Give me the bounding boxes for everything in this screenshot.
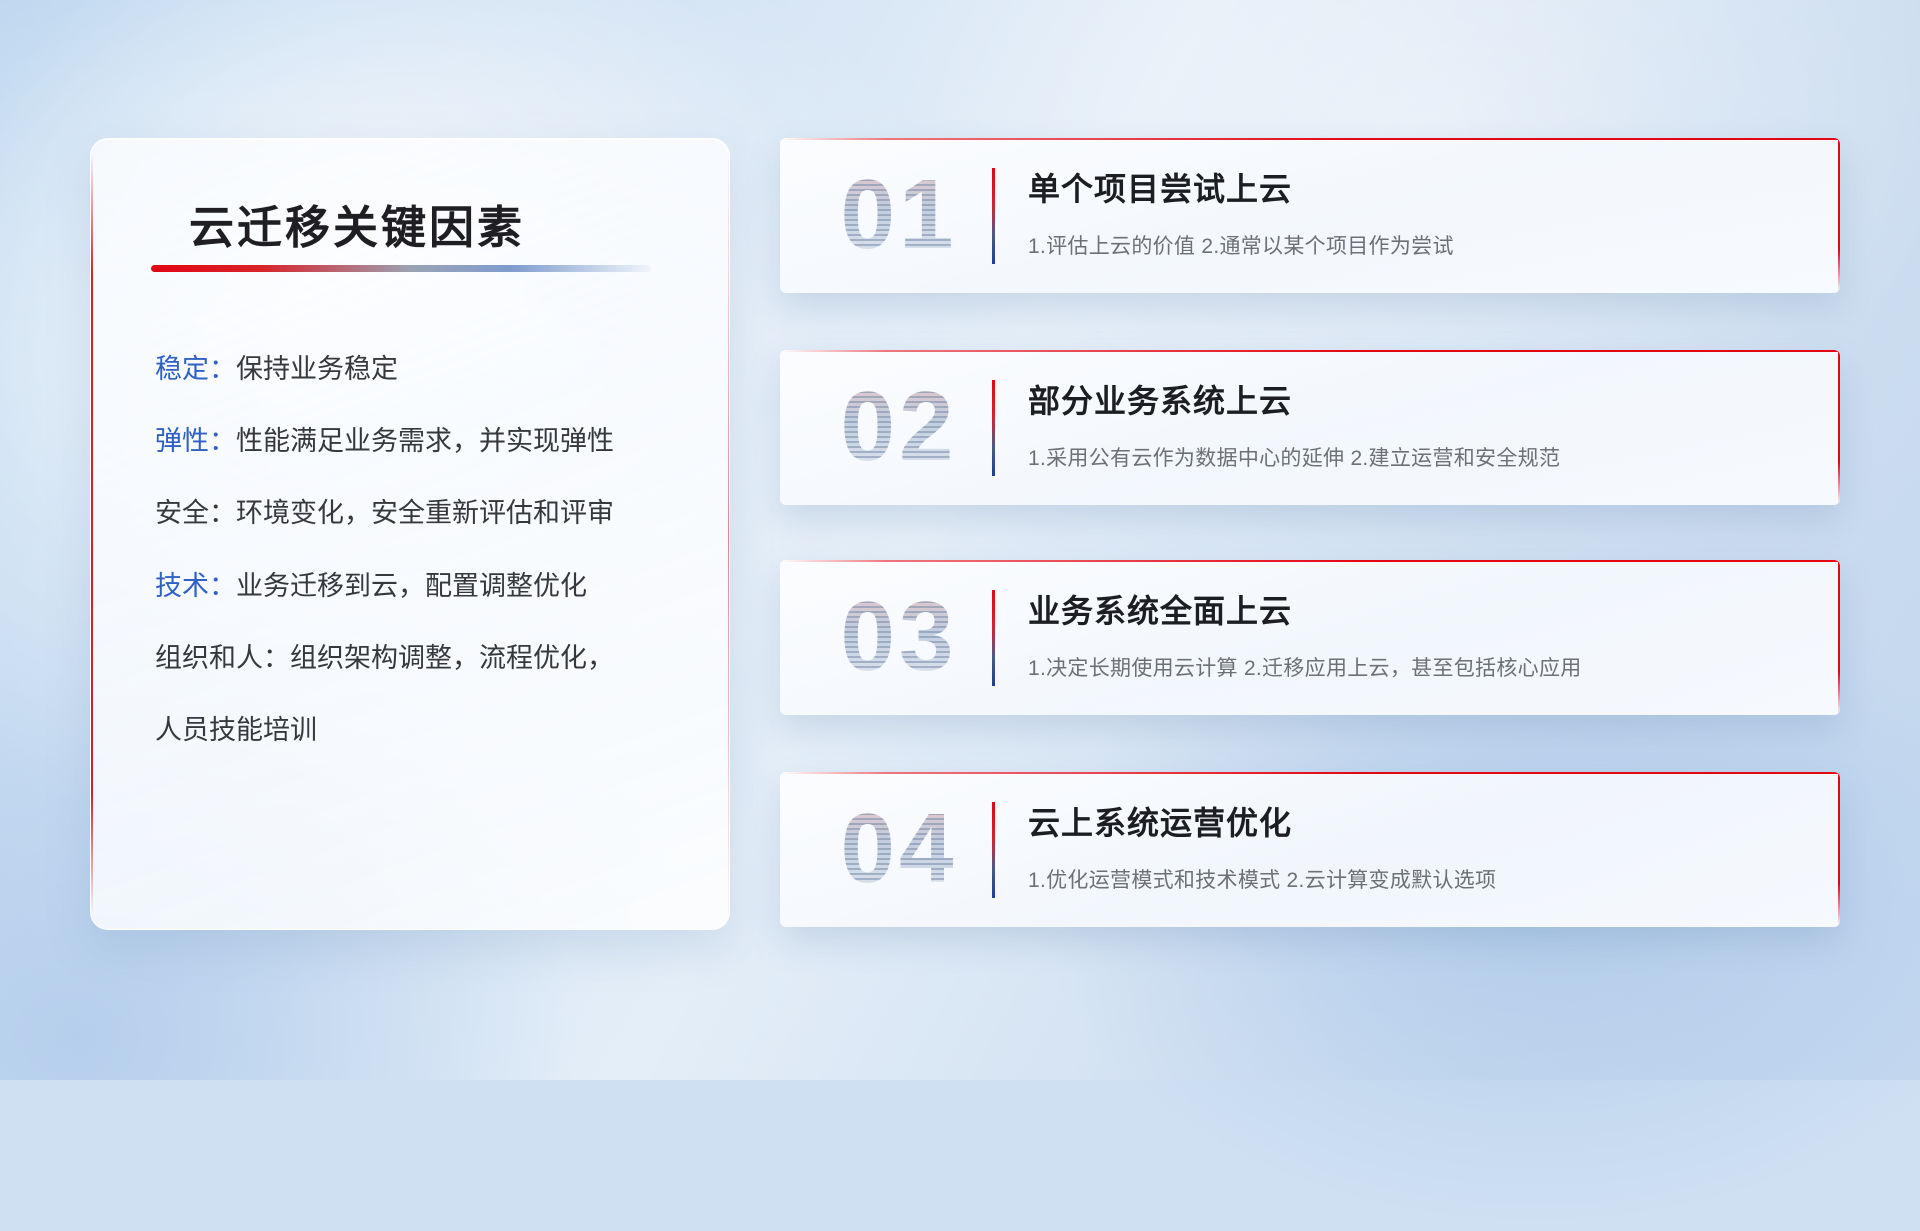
stage-number: 02 [814, 366, 984, 486]
list-item-text: 环境变化，安全重新评估和评审 [236, 498, 614, 528]
stage-number: 03 [814, 576, 984, 696]
stage-divider-accent [992, 168, 995, 264]
stage-divider-accent [992, 590, 995, 686]
stage-number: 01 [814, 154, 984, 274]
list-item-text: 业务迁移到云，配置调整优化 [236, 571, 587, 601]
stage-description: 1.采用公有云作为数据中心的延伸 2.建立运营和安全规范 [1028, 442, 1560, 472]
stage-title: 云上系统运营优化 [1028, 798, 1292, 844]
list-item-text: 性能满足业务需求，并实现弹性 [236, 426, 614, 456]
list-item-text: 人员技能培训 [155, 715, 317, 745]
stage-description: 1.评估上云的价值 2.通常以某个项目作为尝试 [1028, 230, 1454, 260]
list-item-label: 弹性： [155, 426, 236, 456]
page-title: 云迁移关键因素 [189, 191, 525, 256]
list-item-text: 组织架构调整，流程优化， [290, 643, 614, 673]
list-item: 技术：业务迁移到云，配置调整优化 [155, 568, 695, 604]
key-factors-panel: 云迁移关键因素 稳定：保持业务稳定 弹性：性能满足业务需求，并实现弹性 安全：环… [90, 138, 730, 930]
list-item-label: 组织和人： [155, 643, 290, 673]
stage-title: 业务系统全面上云 [1028, 586, 1292, 632]
slide-content: 云迁移关键因素 稳定：保持业务稳定 弹性：性能满足业务需求，并实现弹性 安全：环… [0, 0, 1920, 1080]
stage-description: 1.决定长期使用云计算 2.迁移应用上云，甚至包括核心应用 [1028, 652, 1582, 682]
list-item-label: 安全： [155, 498, 236, 528]
stage-divider-accent [992, 380, 995, 476]
key-factors-list: 稳定：保持业务稳定 弹性：性能满足业务需求，并实现弹性 安全：环境变化，安全重新… [155, 351, 695, 748]
list-item: 安全：环境变化，安全重新评估和评审 [155, 495, 695, 531]
title-underline-accent [151, 265, 651, 272]
stage-divider-accent [992, 802, 995, 898]
stage-card-03[interactable]: 03 业务系统全面上云 1.决定长期使用云计算 2.迁移应用上云，甚至包括核心应… [780, 560, 1840, 715]
stage-number: 04 [814, 788, 984, 908]
list-item: 组织和人：组织架构调整，流程优化， [155, 640, 695, 676]
stage-card-01[interactable]: 01 单个项目尝试上云 1.评估上云的价值 2.通常以某个项目作为尝试 [780, 138, 1840, 293]
stage-title: 部分业务系统上云 [1028, 376, 1292, 422]
list-item: 弹性：性能满足业务需求，并实现弹性 [155, 423, 695, 459]
stage-card-02[interactable]: 02 部分业务系统上云 1.采用公有云作为数据中心的延伸 2.建立运营和安全规范 [780, 350, 1840, 505]
list-item-continuation: 人员技能培训 [155, 712, 695, 748]
list-item: 稳定：保持业务稳定 [155, 351, 695, 387]
list-item-label: 技术： [155, 571, 236, 601]
stage-card-04[interactable]: 04 云上系统运营优化 1.优化运营模式和技术模式 2.云计算变成默认选项 [780, 772, 1840, 927]
list-item-text: 保持业务稳定 [236, 354, 398, 384]
list-item-label: 稳定： [155, 354, 236, 384]
stage-description: 1.优化运营模式和技术模式 2.云计算变成默认选项 [1028, 864, 1496, 894]
stage-title: 单个项目尝试上云 [1028, 164, 1292, 210]
